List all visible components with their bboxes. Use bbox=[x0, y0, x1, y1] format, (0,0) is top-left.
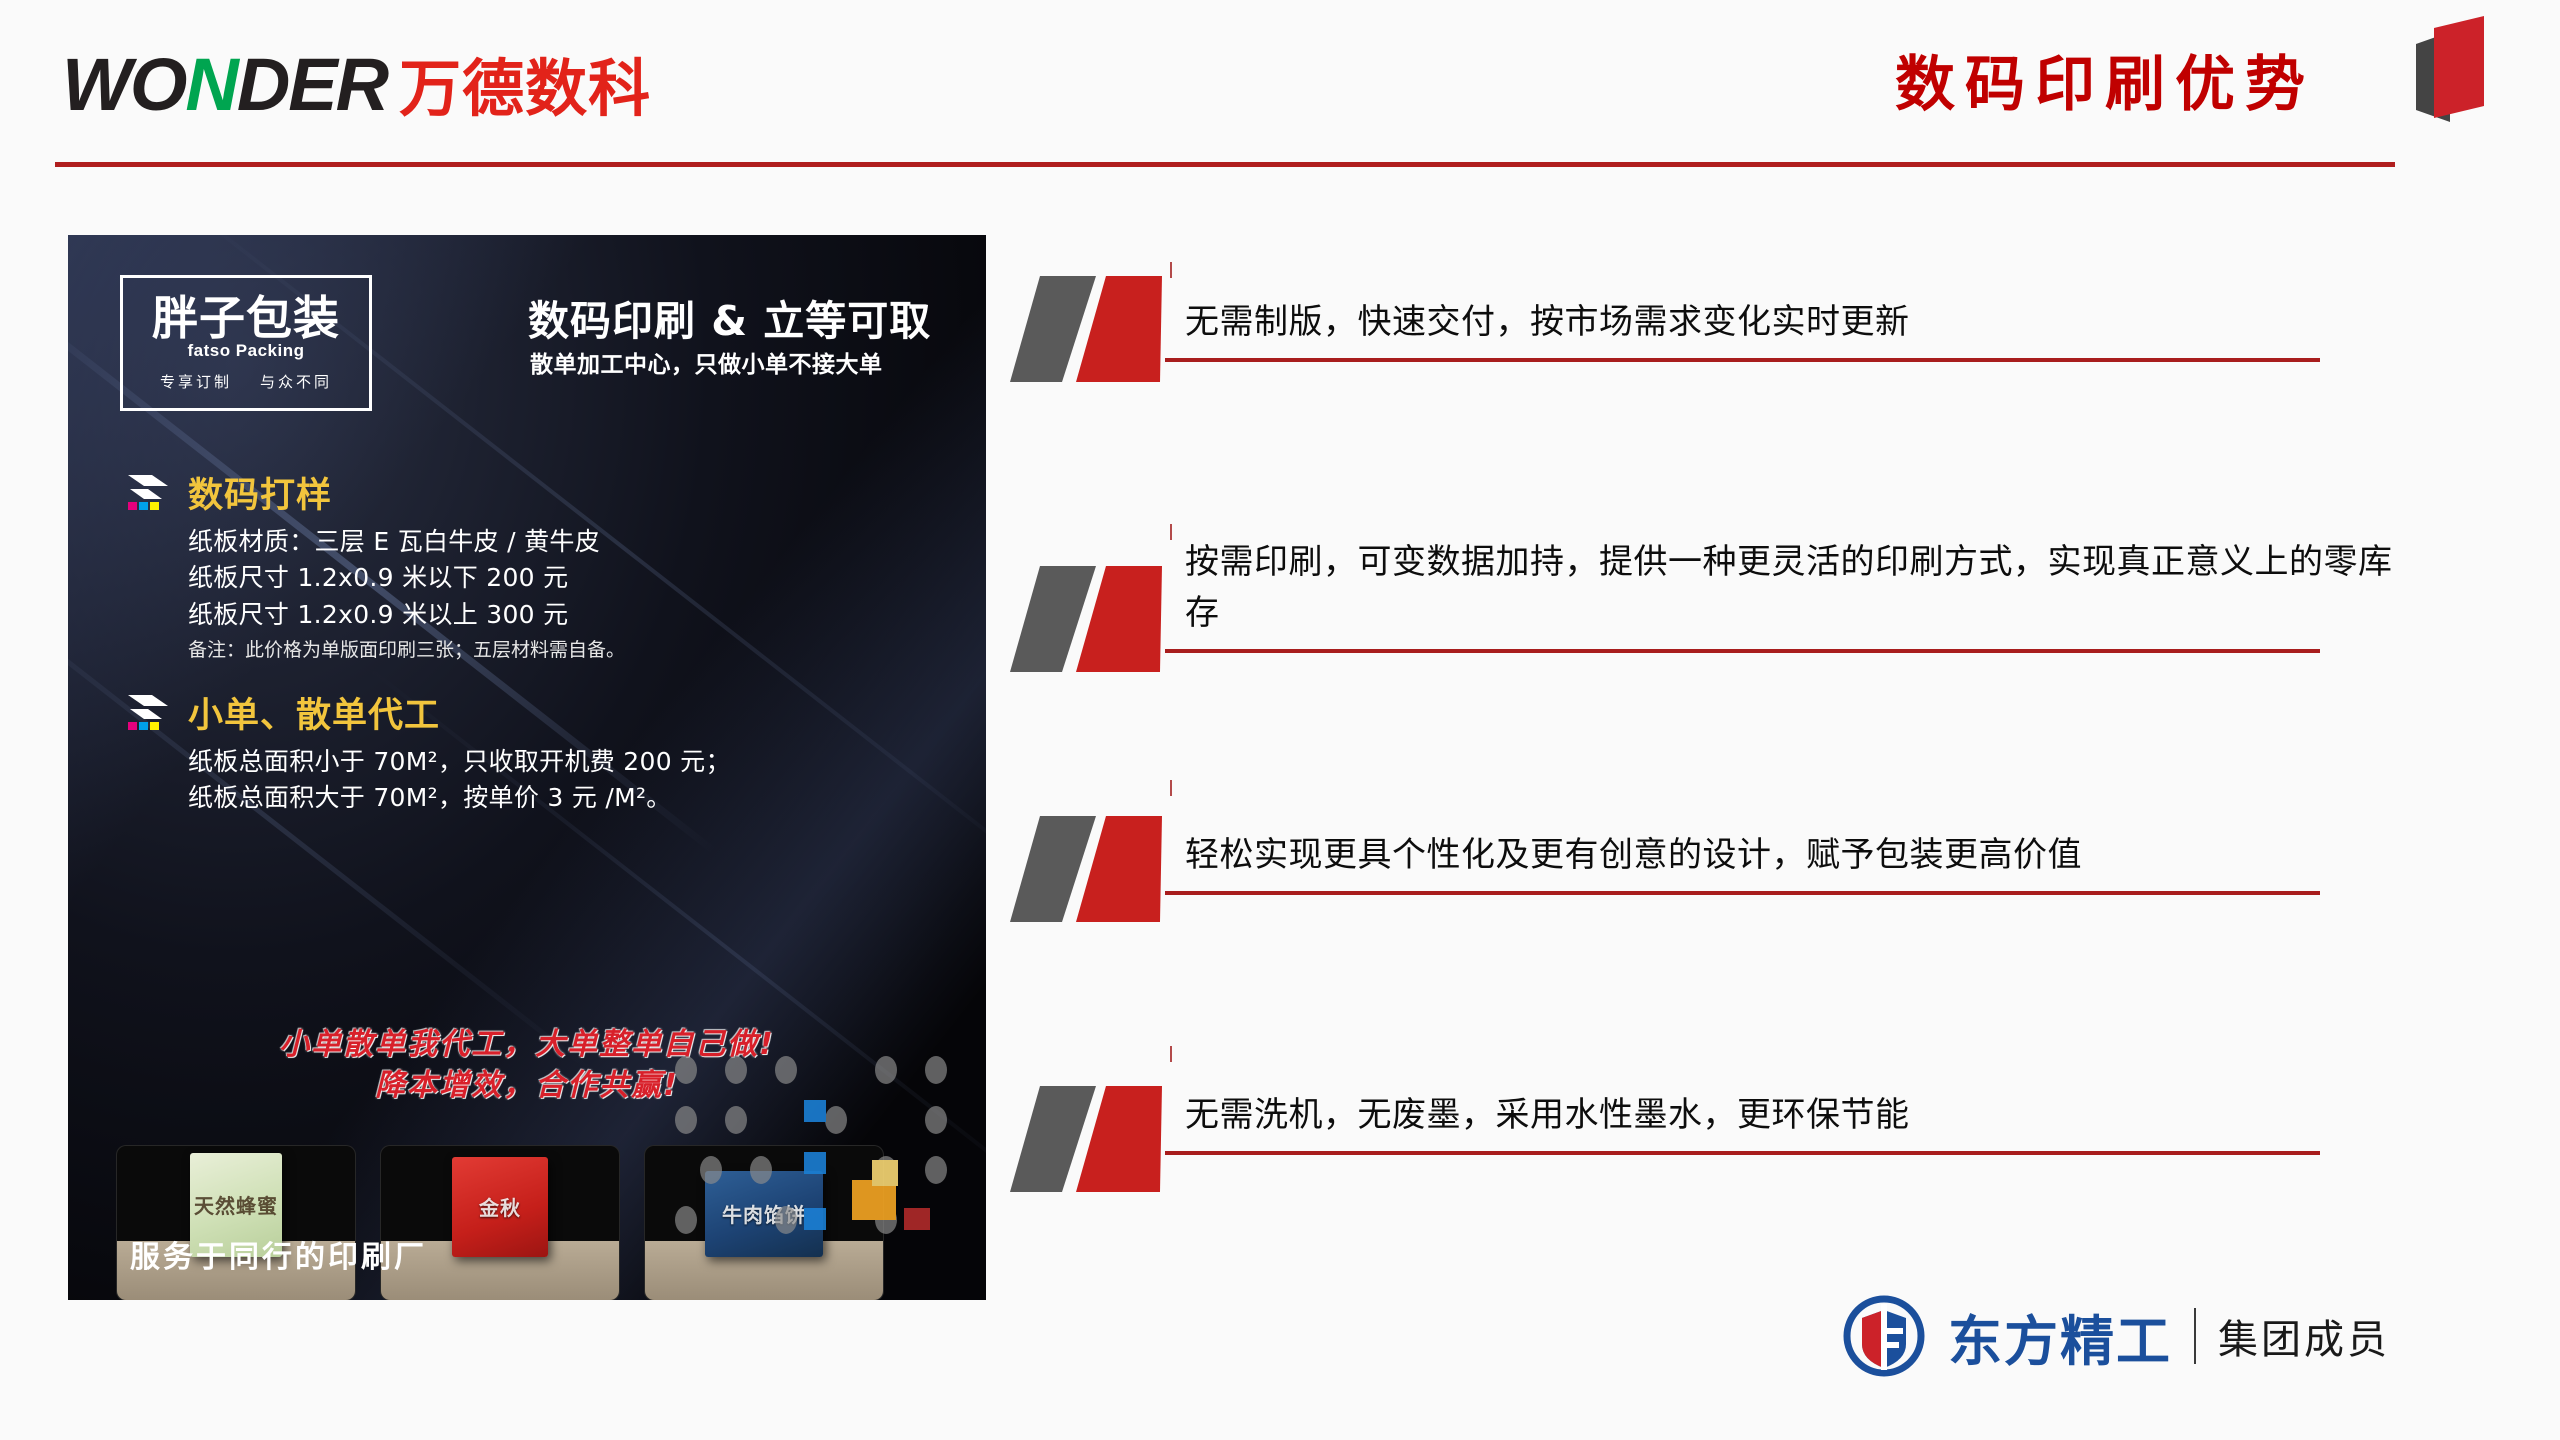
dot-pattern-decoration bbox=[656, 1040, 986, 1300]
brand-chinese-name: 万德数科 bbox=[399, 58, 651, 120]
poster-headline: 数码印刷 & 立等可取 bbox=[528, 287, 931, 347]
section-line: 纸板尺寸 1.2x0.9 米以上 300 元 bbox=[188, 597, 625, 633]
section-title: 小单、散单代工 bbox=[188, 687, 440, 738]
bullet-tick bbox=[1170, 780, 1172, 796]
section-note: 备注：此价格为单版面印刷三张；五层材料需自备。 bbox=[188, 636, 625, 665]
wonder-wordmark: WONDER bbox=[62, 48, 387, 122]
wonder-seg-n: N bbox=[185, 48, 236, 122]
fatso-logo: 胖子包装 fatso Packing 专享订制 与众不同 bbox=[120, 275, 372, 411]
poster-subheadline: 散单加工中心，只做小单不接大单 bbox=[530, 345, 883, 379]
group-membership-label: 集团成员 bbox=[2218, 1307, 2390, 1365]
promo-poster: 胖子包装 fatso Packing 专享订制 与众不同 数码印刷 & 立等可取… bbox=[68, 235, 986, 1300]
poster-footer-text: 服务于同行的印刷厂 bbox=[130, 1232, 427, 1276]
advantage-underline bbox=[1165, 891, 2320, 895]
product-photo: 金秋 bbox=[380, 1145, 620, 1300]
section-title: 数码打样 bbox=[188, 467, 332, 518]
dongfang-jinggong-emblem-icon bbox=[1842, 1294, 1926, 1378]
wonder-seg-de: DE bbox=[237, 48, 336, 122]
bullet-tick bbox=[1170, 262, 1172, 278]
product-photo: 天然蜂蜜 bbox=[116, 1145, 356, 1300]
advantage-text: 无需制版，快速交付，按市场需求变化实时更新 bbox=[1185, 297, 2410, 358]
fatso-logo-english: fatso Packing bbox=[187, 341, 304, 361]
corner-ribbon-icon bbox=[2388, 10, 2498, 140]
advantage-underline bbox=[1165, 358, 2320, 362]
advantage-item[interactable]: 轻松实现更具个性化及更有创意的设计，赋予包装更高价值 bbox=[1010, 792, 2410, 1032]
photo-box: 金秋 bbox=[452, 1157, 548, 1257]
section-line: 纸板总面积大于 70M²，按单价 3 元 /M²。 bbox=[188, 780, 731, 816]
advantage-text: 轻松实现更具个性化及更有创意的设计，赋予包装更高价值 bbox=[1185, 830, 2410, 891]
fatso-logo-main: 胖子包装 bbox=[152, 295, 340, 341]
header-divider bbox=[55, 162, 2395, 167]
slide-root: WONDER 万德数科 数码印刷优势 胖子包装 fatso Packing 专享… bbox=[0, 0, 2560, 1440]
fatso-tag-right: 与众不同 bbox=[260, 371, 332, 392]
advantage-item[interactable]: 无需制版，快速交付，按市场需求变化实时更新 bbox=[1010, 270, 2410, 502]
group-member-logo: 东方精工 集团成员 bbox=[1842, 1294, 2390, 1378]
advantage-text: 无需洗机，无废墨，采用水性墨水，更环保节能 bbox=[1185, 1090, 2410, 1151]
poster-section-small-order-oem: 小单、散单代工 纸板总面积小于 70M²，只收取开机费 200 元； 纸板总面积… bbox=[126, 687, 731, 817]
poster-section-digital-proofing: 数码打样 纸板材质：三层 E 瓦白牛皮 / 黄牛皮 纸板尺寸 1.2x0.9 米… bbox=[126, 467, 625, 664]
fatso-tag-left: 专享订制 bbox=[160, 371, 232, 392]
footer-divider bbox=[2194, 1308, 2196, 1364]
advantage-item[interactable]: 按需印刷，可变数据加持，提供一种更灵活的印刷方式，实现真正意义上的零库存 bbox=[1010, 502, 2410, 792]
bullet-tick bbox=[1170, 524, 1172, 540]
advantages-list: 无需制版，快速交付，按市场需求变化实时更新 按需印刷，可变数据加持，提供一种更灵… bbox=[1010, 270, 2410, 1232]
bullet-tick bbox=[1170, 1046, 1172, 1062]
wonder-seg-wo: WO bbox=[62, 48, 185, 122]
page-title: 数码印刷优势 bbox=[1895, 52, 2315, 118]
group-company-name: 东方精工 bbox=[1948, 1297, 2172, 1376]
brand-logo: WONDER 万德数科 bbox=[62, 48, 651, 122]
chevron-arrow-icon bbox=[126, 693, 174, 733]
section-line: 纸板材质：三层 E 瓦白牛皮 / 黄牛皮 bbox=[188, 524, 625, 560]
advantage-text: 按需印刷，可变数据加持，提供一种更灵活的印刷方式，实现真正意义上的零库存 bbox=[1185, 537, 2410, 649]
advantage-underline bbox=[1165, 649, 2320, 653]
section-line: 纸板总面积小于 70M²，只收取开机费 200 元； bbox=[188, 744, 731, 780]
chevron-arrow-icon bbox=[126, 473, 174, 513]
section-line: 纸板尺寸 1.2x0.9 米以下 200 元 bbox=[188, 560, 625, 596]
advantage-underline bbox=[1165, 1151, 2320, 1155]
wonder-seg-r: R bbox=[336, 48, 387, 122]
photo-box-label: 金秋 bbox=[452, 1157, 548, 1257]
advantage-item[interactable]: 无需洗机，无废墨，采用水性墨水，更环保节能 bbox=[1010, 1032, 2410, 1232]
